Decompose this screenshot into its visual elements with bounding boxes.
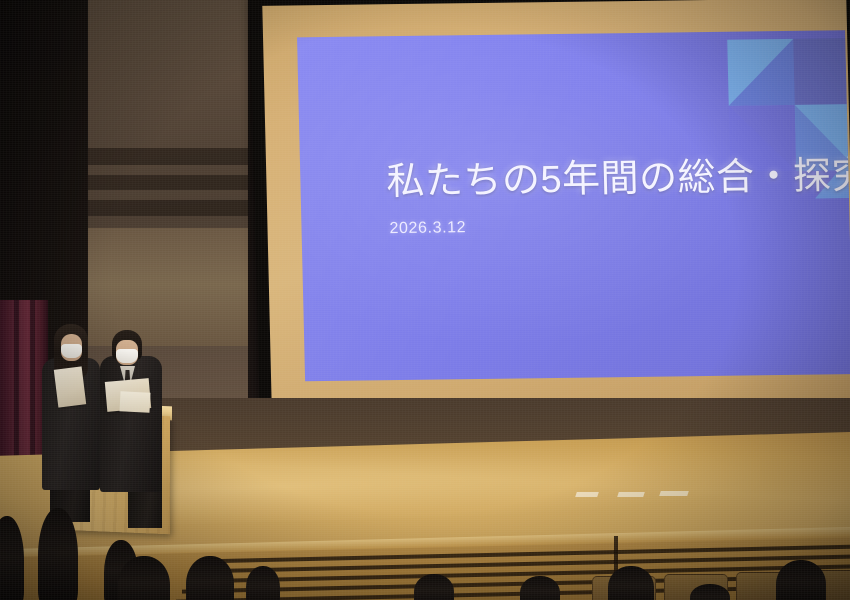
presenter-left-paper	[54, 366, 86, 407]
slide-title: 私たちの5年間の総合・探究学習	[386, 154, 850, 205]
presenter-right-paper-second	[119, 391, 150, 413]
floor-marker-2	[617, 492, 645, 497]
audience-head	[776, 560, 826, 600]
presentation-slide: 私たちの5年間の総合・探究学習 2026.3.12	[297, 30, 850, 381]
audience-head	[38, 508, 78, 600]
presentation-photo-scene: 私たちの5年間の総合・探究学習 2026.3.12	[0, 0, 850, 600]
audience-head	[520, 576, 560, 600]
screen-surface: 私たちの5年間の総合・探究学習 2026.3.12	[262, 0, 850, 410]
presenter-right-face-mask	[116, 349, 138, 363]
floor-marker-1	[575, 492, 599, 497]
slide-date: 2026.3.12	[389, 219, 466, 238]
audience-head	[246, 566, 280, 600]
presenter-left-face-mask	[61, 344, 82, 358]
audience-head	[608, 566, 654, 600]
audience-head	[414, 574, 454, 600]
triangle-shadow-upper	[727, 39, 795, 106]
wall-band-3	[88, 200, 266, 216]
triangle-light-upper	[727, 39, 795, 106]
triangle-muted-block	[793, 38, 849, 105]
wall-light-panel	[88, 228, 266, 346]
wall-band-2	[88, 175, 266, 190]
floor-marker-3	[659, 491, 689, 496]
slide-projection-sheen	[297, 30, 850, 381]
wall-band-1	[88, 148, 266, 165]
projection-screen: 私たちの5年間の総合・探究学習 2026.3.12	[250, 0, 850, 424]
